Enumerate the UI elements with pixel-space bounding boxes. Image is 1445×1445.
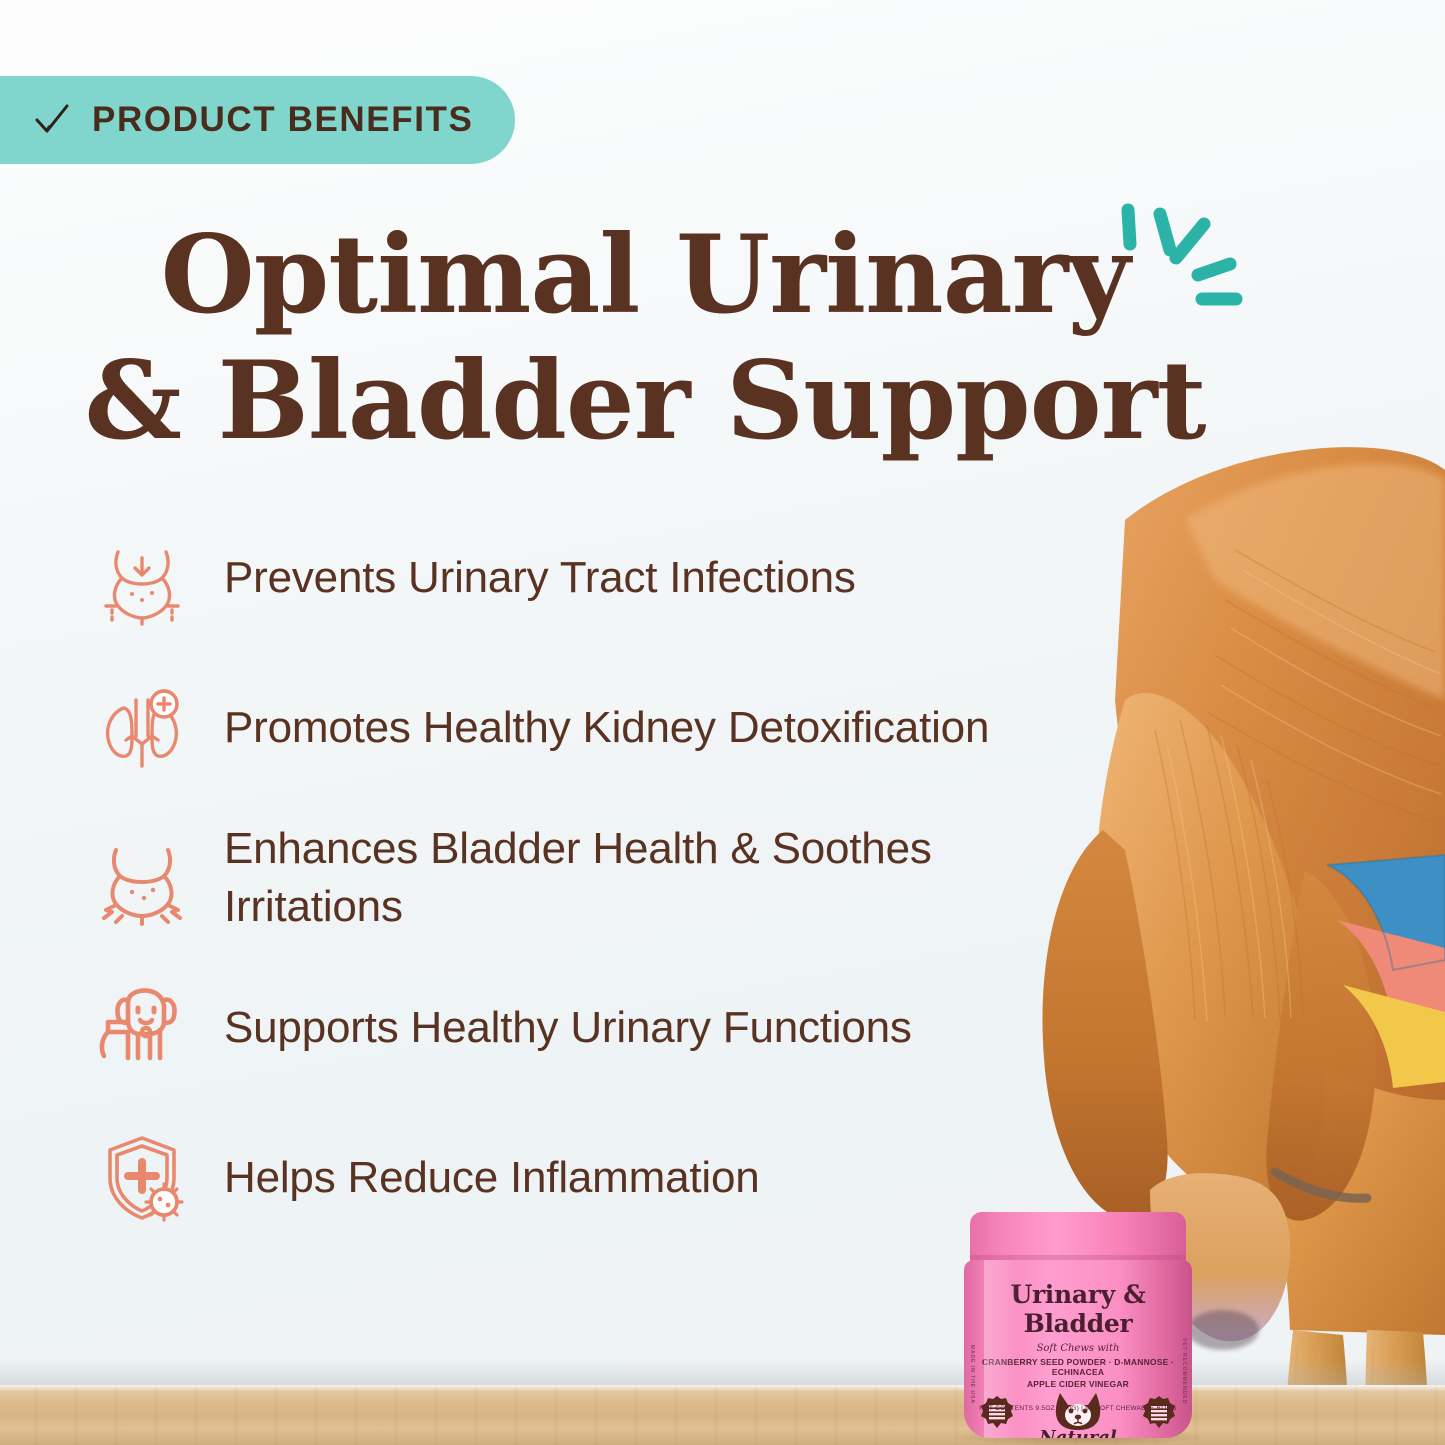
- wall-floor-shadow: [0, 1359, 1445, 1385]
- jar-lid: [970, 1212, 1186, 1264]
- product-benefits-infographic: PRODUCT BENEFITS Optimal Urinary & Bladd…: [0, 0, 1445, 1445]
- dog-icon: [86, 972, 198, 1084]
- benefit-item: Promotes Healthy Kidney Detoxification: [86, 670, 1096, 786]
- wood-floor: [0, 1385, 1445, 1445]
- floor-grain: [0, 1385, 1445, 1445]
- benefit-label: Supports Healthy Urinary Functions: [224, 999, 912, 1057]
- benefit-item: Supports Healthy Urinary Functions: [86, 970, 1096, 1086]
- badge-label: PRODUCT BENEFITS: [92, 100, 473, 140]
- benefit-label: Promotes Healthy Kidney Detoxification: [224, 699, 989, 757]
- benefits-list: Prevents Urinary Tract Infections Promot…: [86, 520, 1096, 1270]
- benefit-label: Enhances Bladder Health & Soothes Irrita…: [224, 820, 1096, 936]
- sparkle-icon: [1112, 196, 1262, 326]
- jar-label: Urinary & Bladder Soft Chews with CRANBE…: [964, 1260, 1192, 1438]
- headline-line-2: & Bladder Support: [0, 338, 1290, 464]
- headline-line-1: Optimal Urinary: [0, 212, 1290, 338]
- product-jar: Urinary & Bladder Soft Chews with CRANBE…: [962, 1212, 1194, 1440]
- bladder-irritation-icon: [86, 822, 198, 934]
- jar-brand-name: Natural: [1039, 1427, 1117, 1438]
- jar-side-text-right: VET RECOMMENDED: [1181, 1338, 1187, 1404]
- jar-net-contents: NET CONTENTS 9.5OZ (270G) | 90 SOFT CHEW…: [964, 1405, 1192, 1412]
- kidney-plus-icon: [86, 672, 198, 784]
- page-title: Optimal Urinary & Bladder Support: [0, 212, 1290, 465]
- jar-seal-left-badge: [980, 1395, 1014, 1434]
- benefit-item: Prevents Urinary Tract Infections: [86, 520, 1096, 636]
- check-icon: [32, 100, 72, 140]
- shield-germ-icon: [86, 1122, 198, 1234]
- benefit-label: Helps Reduce Inflammation: [224, 1149, 759, 1207]
- product-benefits-badge: PRODUCT BENEFITS: [0, 76, 515, 164]
- jar-side-text-left: MADE IN THE USA: [969, 1345, 975, 1404]
- benefit-item: Helps Reduce Inflammation: [86, 1120, 1096, 1236]
- benefit-label: Prevents Urinary Tract Infections: [224, 549, 856, 607]
- jar-seal-right-badge: [1142, 1395, 1176, 1434]
- bladder-arrow-icon: [86, 522, 198, 634]
- benefit-item: Enhances Bladder Health & Soothes Irrita…: [86, 820, 1096, 936]
